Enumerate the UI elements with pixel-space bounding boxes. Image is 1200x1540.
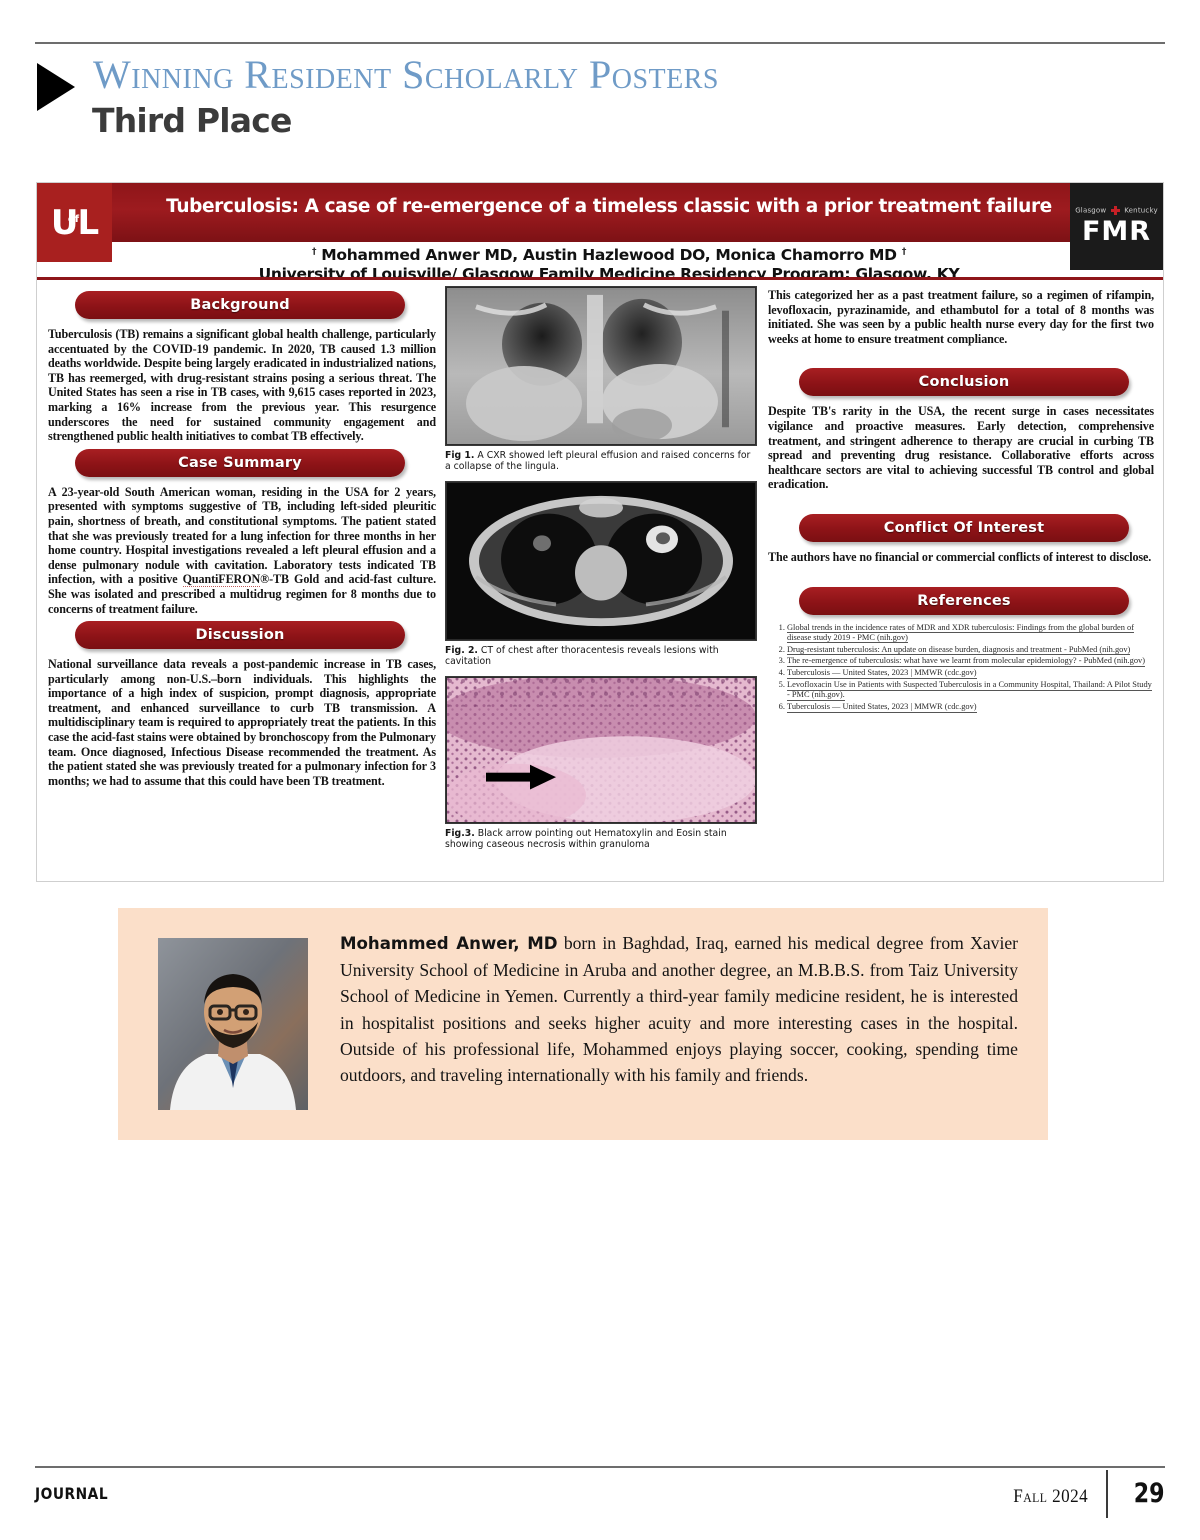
poster-column-left: Background Tuberculosis (TB) remains a s… <box>45 286 439 788</box>
footer-journal-label: JOURNAL <box>35 1484 108 1503</box>
references-list: Global trends in the incidence rates of … <box>765 623 1157 713</box>
fmr-logo-kentucky: Kentucky <box>1124 207 1158 215</box>
case-summary-part1: A 23-year-old South American woman, resi… <box>48 485 436 587</box>
reference-item[interactable]: Drug-resistant tuberculosis: An update o… <box>787 645 1153 655</box>
reference-item[interactable]: The re-emergence of tuberculosis: what h… <box>787 656 1153 666</box>
reference-link[interactable]: The re-emergence of tuberculosis: what h… <box>787 656 1145 667</box>
fmr-logo-text: FMR <box>1082 216 1151 247</box>
section-header-conflict-of-interest: Conflict Of Interest <box>799 514 1129 542</box>
section-header-label: Background <box>190 297 290 313</box>
section-header-label: References <box>917 593 1011 609</box>
header-divider <box>35 42 1165 44</box>
author-bio-text: Mohammed Anwer, MD born in Baghdad, Iraq… <box>340 930 1018 1088</box>
poster-figure: UL of Tuberculosis: A case of re-emergen… <box>36 182 1164 882</box>
case-summary-text: A 23-year-old South American woman, resi… <box>48 485 436 616</box>
poster-header: UL of Tuberculosis: A case of re-emergen… <box>37 183 1163 280</box>
figure-3-caption-text: Black arrow pointing out Hematoxylin and… <box>445 828 727 850</box>
fmr-logo: Glasgow Kentucky FMR <box>1070 183 1163 270</box>
uofl-logo: UL of <box>37 183 112 262</box>
footer-page-number: 29 <box>1134 1478 1165 1509</box>
figure-2-caption: Fig. 2. CT of chest after thoracentesis … <box>445 645 757 668</box>
discussion-text: National surveillance data reveals a pos… <box>48 657 436 788</box>
reference-item[interactable]: Levofloxacin Use in Patients with Suspec… <box>787 680 1153 701</box>
figure-3-histology-image <box>445 676 757 824</box>
author-photo <box>158 938 308 1110</box>
section-header-conclusion: Conclusion <box>799 368 1129 396</box>
page-title: Winning Resident Scholarly Posters <box>93 51 719 98</box>
background-text: Tuberculosis (TB) remains a significant … <box>48 327 436 444</box>
figure-1-caption-text: A CXR showed left pleural effusion and r… <box>445 450 750 472</box>
reference-link[interactable]: Tuberculosis — United States, 2023 | MMW… <box>787 668 977 679</box>
poster-title: Tuberculosis: A case of re-emergence of … <box>129 196 1089 217</box>
figure-2-ct-image <box>445 481 757 641</box>
medical-cross-icon <box>1111 206 1120 215</box>
figure-1-caption: Fig 1. A CXR showed left pleural effusio… <box>445 450 757 473</box>
author-bio-box: Mohammed Anwer, MD born in Baghdad, Iraq… <box>118 908 1048 1140</box>
section-header-label: Conclusion <box>919 374 1010 390</box>
footer-issue-label: Fall 2024 <box>1013 1486 1088 1508</box>
conclusion-text: Despite TB's rarity in the USA, the rece… <box>768 404 1154 492</box>
treatment-text: This categorized her as a past treatment… <box>768 288 1154 346</box>
reference-link[interactable]: Global trends in the incidence rates of … <box>787 623 1134 644</box>
dagger-icon: † <box>902 247 906 257</box>
masthead: Winning Resident Scholarly Posters Third… <box>35 55 1165 145</box>
footer-vertical-rule <box>1106 1470 1108 1518</box>
conflict-of-interest-text: The authors have no financial or commerc… <box>768 550 1154 565</box>
author-bio-name: Mohammed Anwer, MD <box>340 934 558 953</box>
section-header-discussion: Discussion <box>75 621 405 649</box>
figure-1-label: Fig 1. <box>445 450 474 461</box>
journal-page: Winning Resident Scholarly Posters Third… <box>0 0 1200 1540</box>
section-header-background: Background <box>75 291 405 319</box>
poster-column-right: This categorized her as a past treatment… <box>765 286 1157 714</box>
figure-3-label: Fig.3. <box>445 828 475 839</box>
figure-2-label: Fig. 2. <box>445 645 478 656</box>
uofl-logo-of: of <box>68 215 79 225</box>
figure-1-chest-xray-image <box>445 286 757 446</box>
footer-divider <box>35 1466 1165 1468</box>
reference-item[interactable]: Tuberculosis — United States, 2023 | MMW… <box>787 702 1153 712</box>
case-summary-highlight: QuantiFERON <box>183 572 261 587</box>
poster-body: Background Tuberculosis (TB) remains a s… <box>37 280 1163 881</box>
figure-3-caption: Fig.3. Black arrow pointing out Hematoxy… <box>445 828 757 851</box>
section-header-label: Discussion <box>195 627 284 643</box>
reference-link[interactable]: Tuberculosis — United States, 2023 | MMW… <box>787 702 977 713</box>
reference-item[interactable]: Global trends in the incidence rates of … <box>787 623 1153 644</box>
section-header-label: Conflict Of Interest <box>884 520 1044 536</box>
section-header-label: Case Summary <box>178 455 302 471</box>
reference-link[interactable]: Levofloxacin Use in Patients with Suspec… <box>787 680 1152 701</box>
author-bio-body: born in Baghdad, Iraq, earned his medica… <box>340 933 1018 1085</box>
fmr-logo-glasgow: Glasgow <box>1075 207 1106 215</box>
poster-column-middle: Fig 1. A CXR showed left pleural effusio… <box>445 286 757 858</box>
page-subtitle: Third Place <box>92 101 292 140</box>
reference-link[interactable]: Drug-resistant tuberculosis: An update o… <box>787 645 1130 656</box>
section-header-case-summary: Case Summary <box>75 449 405 477</box>
play-triangle-icon <box>37 63 75 111</box>
section-header-references: References <box>799 587 1129 615</box>
poster-authors: Mohammed Anwer MD, Austin Hazlewood DO, … <box>321 246 897 264</box>
figure-2-caption-text: CT of chest after thoracentesis reveals … <box>445 645 719 667</box>
dagger-icon: † <box>312 247 316 257</box>
reference-item[interactable]: Tuberculosis — United States, 2023 | MMW… <box>787 668 1153 678</box>
